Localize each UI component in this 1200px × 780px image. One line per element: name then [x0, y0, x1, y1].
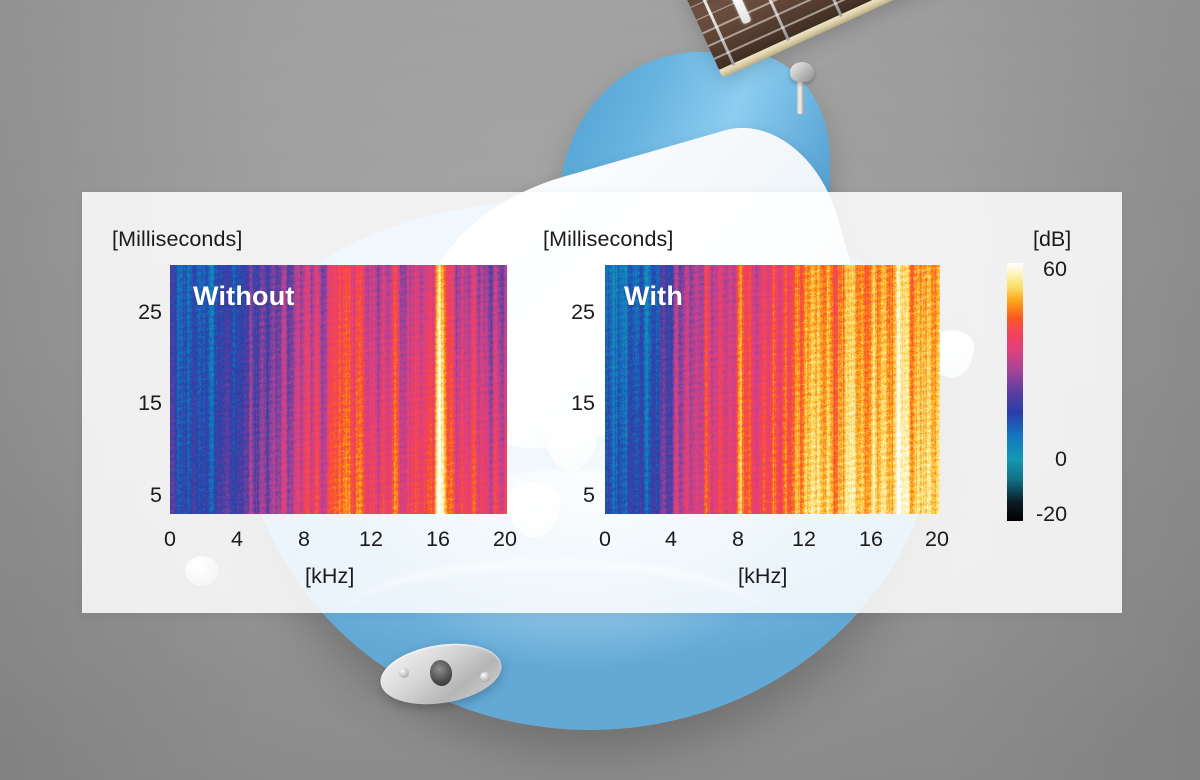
right-x-axis-title: [kHz]: [738, 564, 787, 589]
guitar-jack-screw: [480, 672, 490, 682]
left-x-tick-12: 12: [354, 527, 388, 552]
right-y-axis-title: [Milliseconds]: [543, 227, 673, 252]
left-y-axis-title: [Milliseconds]: [112, 227, 242, 252]
tuner-post: [797, 80, 804, 114]
colorbar: [1007, 263, 1023, 521]
guitar-fretboard: [680, 0, 1200, 72]
guitar-jack-screw: [399, 668, 409, 678]
left-y-tick-15: 15: [118, 391, 162, 416]
left-y-tick-5: 5: [118, 483, 162, 508]
left-panel-tag: Without: [193, 281, 295, 312]
right-y-tick-25: 25: [551, 300, 595, 325]
left-x-tick-4: 4: [220, 527, 254, 552]
colorbar-canvas: [1007, 263, 1023, 521]
tuner-peg: [790, 62, 814, 82]
right-y-tick-15: 15: [551, 391, 595, 416]
left-x-tick-0: 0: [153, 527, 187, 552]
right-x-tick-0: 0: [588, 527, 622, 552]
left-y-tick-25: 25: [118, 300, 162, 325]
left-x-tick-8: 8: [287, 527, 321, 552]
colorbar-tick-0: 0: [1055, 447, 1067, 472]
colorbar-tick-minus20: -20: [1036, 502, 1067, 527]
left-x-tick-16: 16: [421, 527, 455, 552]
left-x-axis-title: [kHz]: [305, 564, 354, 589]
right-x-tick-12: 12: [787, 527, 821, 552]
colorbar-unit-label: [dB]: [1033, 227, 1071, 252]
right-x-tick-16: 16: [854, 527, 888, 552]
right-y-tick-5: 5: [551, 483, 595, 508]
right-panel-tag: With: [624, 281, 683, 312]
right-x-tick-4: 4: [654, 527, 688, 552]
right-x-tick-8: 8: [721, 527, 755, 552]
left-x-tick-20: 20: [488, 527, 522, 552]
screenshot-stage: [Milliseconds] Without 25 15 5 0 4 8 12 …: [0, 0, 1200, 780]
right-x-tick-20: 20: [920, 527, 954, 552]
colorbar-tick-60: 60: [1043, 257, 1067, 282]
